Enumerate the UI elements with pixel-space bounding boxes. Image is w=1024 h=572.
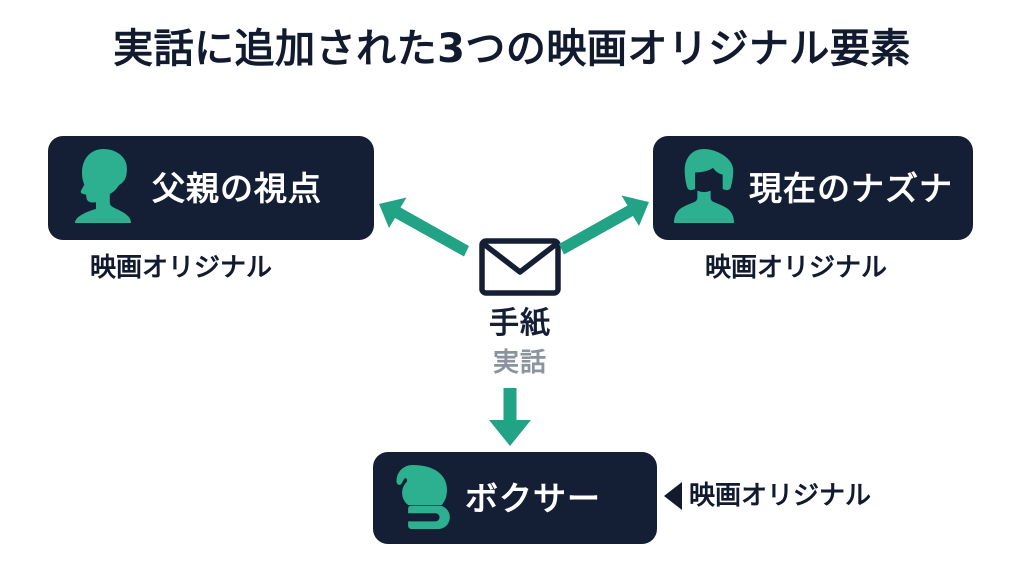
caption-nazuna: 映画オリジナル — [705, 255, 887, 281]
arrow-up-left-icon — [376, 194, 472, 266]
arrow-down-icon — [486, 386, 534, 448]
caption-father: 映画オリジナル — [90, 255, 272, 281]
node-card-nazuna[interactable]: 現在のナズナ — [653, 136, 973, 240]
caption-boxer: 映画オリジナル — [664, 482, 871, 510]
male-head-silhouette-icon — [70, 148, 136, 228]
node-card-boxer[interactable]: ボクサー — [373, 452, 657, 544]
diagram-canvas: 実話に追加された3つの映画オリジナル要素 父親の視点 映画オリジナル 現在のナズ… — [0, 0, 1024, 572]
center-node-title: 手紙 — [432, 309, 608, 339]
page-title: 実話に追加された3つの映画オリジナル要素 — [0, 24, 1024, 74]
node-card-boxer-label: ボクサー — [465, 482, 601, 515]
triangle-left-icon — [664, 482, 682, 510]
female-avatar-icon — [671, 147, 737, 229]
center-node-subtitle: 実話 — [432, 350, 608, 376]
boxing-glove-icon — [391, 462, 451, 534]
node-card-father-label: 父親の視点 — [152, 172, 322, 205]
node-card-nazuna-label: 現在のナズナ — [749, 172, 953, 205]
caption-boxer-label: 映画オリジナル — [689, 483, 871, 509]
arrow-up-right-icon — [556, 192, 652, 264]
node-card-father[interactable]: 父親の視点 — [48, 136, 374, 240]
